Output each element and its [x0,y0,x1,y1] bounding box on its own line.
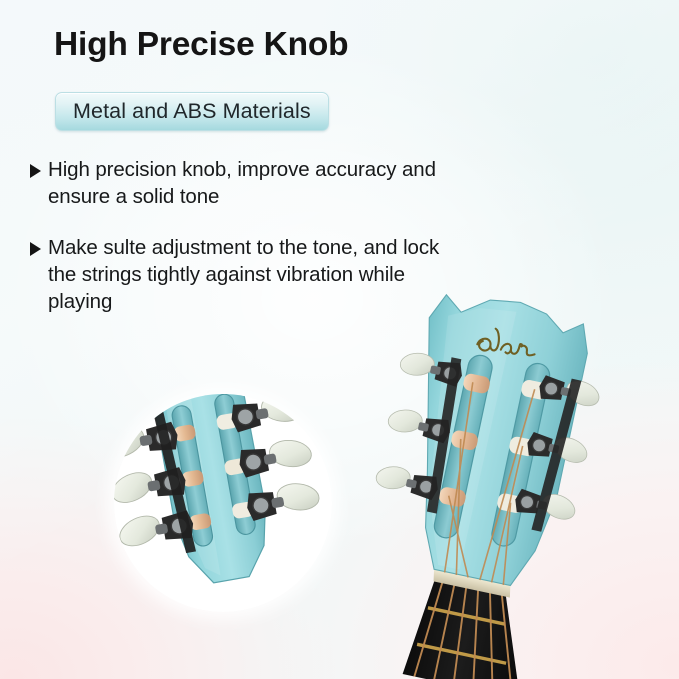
triangle-right-icon [30,242,41,256]
product-feature-image: High Precise Knob Metal and ABS Material… [0,0,679,679]
feature-text: High precision knob, improve accuracy an… [48,156,450,210]
page-title: High Precise Knob [54,26,348,64]
guitar-headstock-photo [368,288,679,679]
list-item: High precision knob, improve accuracy an… [30,156,450,210]
status-badge: Metal and ABS Materials [55,92,329,131]
tuning-machine-closeup-inset [114,394,332,612]
triangle-right-icon [30,164,41,178]
status-badge-label: Metal and ABS Materials [73,99,311,124]
